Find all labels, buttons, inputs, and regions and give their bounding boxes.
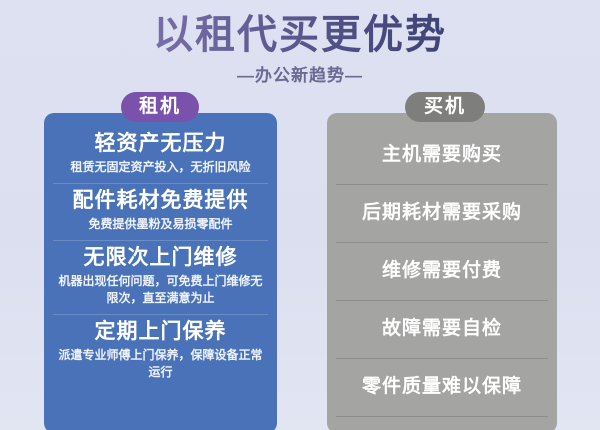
buy-item: 零件质量难以保障 [336,359,548,417]
buy-item: 后期耗材需要采购 [336,185,548,243]
buy-item: 故障需要自检 [336,301,548,359]
poster-header: 以租代买更优势 —办公新趋势— [0,0,600,86]
rent-item-description: 免费提供墨粉及易损零配件 [53,214,268,235]
rent-item: 轻资产无压力 租赁无固定资产投入，无折旧风险 [53,127,268,183]
rent-item-heading: 定期上门保养 [53,318,268,345]
buy-item: 主机需要购买 [336,130,548,185]
page-subtitle: —办公新趋势— [0,58,600,86]
buy-badge: 买机 [405,92,485,122]
comparison-poster: 以租代买更优势 —办公新趋势— 租机 买机 轻资产无压力 租赁无固定资产投入，无… [0,0,600,430]
rent-item: 定期上门保养 派遣专业师傅上门保养，保障设备正常运行 [53,314,268,388]
rent-item-heading: 无限次上门维修 [53,244,268,271]
page-title: 以租代买更优势 [0,0,600,58]
rent-item: 配件耗材免费提供 免费提供墨粉及易损零配件 [53,183,268,240]
rent-item: 无限次上门维修 机器出现任何问题，可免费上门维修无限次，直至满意为止 [53,240,268,314]
rent-item-heading: 轻资产无压力 [53,130,268,157]
rent-item-description: 机器出现任何问题，可免费上门维修无限次，直至满意为止 [53,271,268,309]
rent-item-heading: 配件耗材免费提供 [53,187,268,214]
rent-badge: 租机 [121,92,199,122]
rent-item-description: 派遣专业师傅上门保养，保障设备正常运行 [53,345,268,383]
buy-item: 维修需要付费 [336,243,548,301]
rent-panel: 轻资产无压力 租赁无固定资产投入，无折旧风险 配件耗材免费提供 免费提供墨粉及易… [44,113,277,430]
buy-panel: 主机需要购买 后期耗材需要采购 维修需要付费 故障需要自检 零件质量难以保障 [327,113,557,430]
rent-item-description: 租赁无固定资产投入，无折旧风险 [53,157,268,178]
